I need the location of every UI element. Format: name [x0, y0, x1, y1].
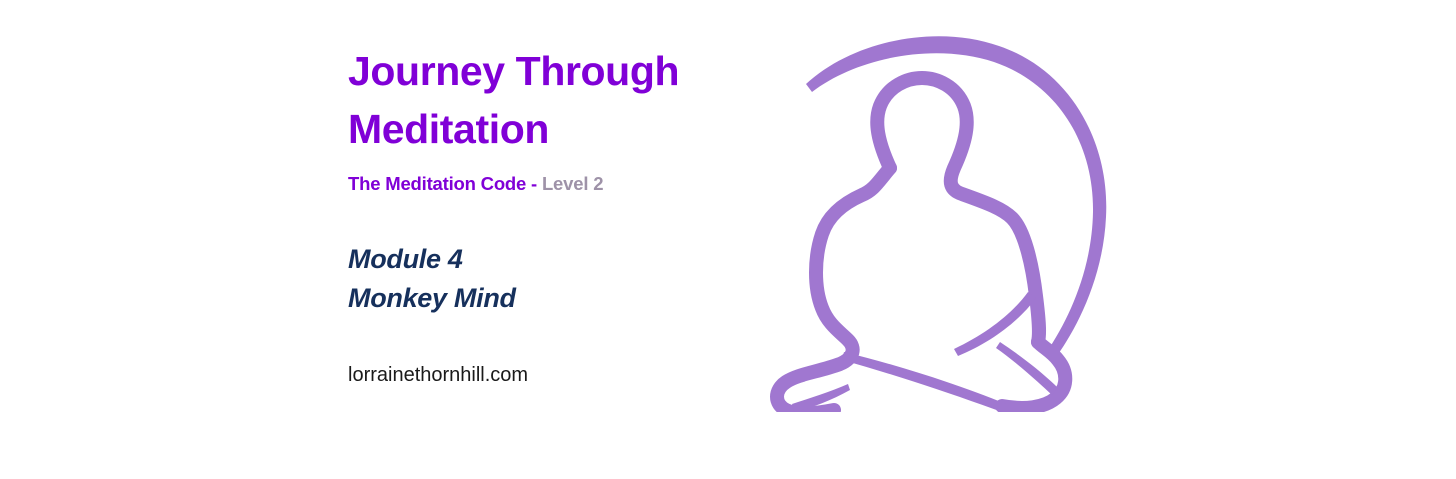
module-number-label: Module 4 [348, 240, 748, 279]
meditating-figure-illustration [762, 22, 1132, 412]
crossed-shin-upper-wedge [954, 292, 1036, 356]
series-subtitle: The Meditation Code - Level 2 [348, 172, 748, 196]
module-block: Module 4 Monkey Mind [348, 240, 748, 318]
meditating-figure-lotus-pose-icon [762, 22, 1132, 412]
crossed-shin-lower-wedge [842, 352, 1006, 412]
website-url-label: lorrainethornhill.com [348, 362, 748, 388]
page-title: Journey Through Meditation [348, 42, 748, 158]
left-arm-knee-outline [777, 168, 890, 412]
head-torso-outline [877, 78, 1039, 342]
series-level-label: Level 2 [542, 173, 603, 194]
slide-canvas: Journey Through Meditation The Meditatio… [0, 0, 1456, 479]
series-name-label: The Meditation Code - [348, 173, 542, 194]
module-name-label: Monkey Mind [348, 279, 748, 318]
text-content-column: Journey Through Meditation The Meditatio… [348, 42, 748, 388]
